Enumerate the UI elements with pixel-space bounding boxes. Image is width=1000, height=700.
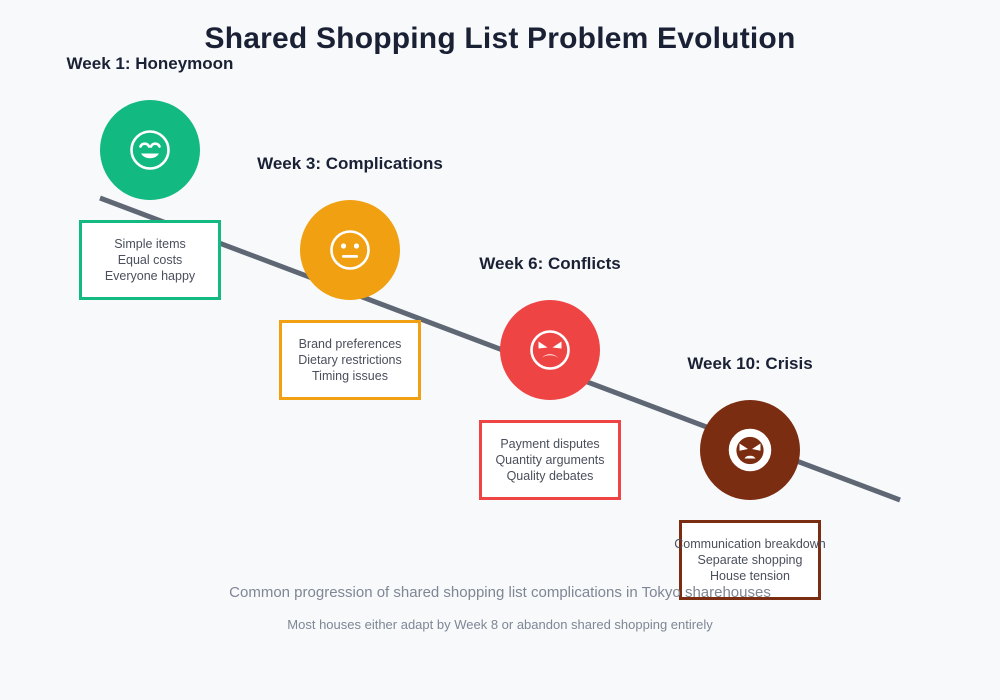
stage-bubble[interactable] xyxy=(100,100,200,200)
footnote-secondary: Most houses either adapt by Week 8 or ab… xyxy=(0,617,1000,632)
stage-label: Week 10: Crisis xyxy=(687,354,812,374)
stage-label: Week 1: Honeymoon xyxy=(67,54,234,74)
stage-bubble[interactable] xyxy=(500,300,600,400)
detail-line: Timing issues xyxy=(312,368,388,384)
detail-line: Communication breakdown xyxy=(674,536,825,552)
stage-label: Week 3: Complications xyxy=(257,154,443,174)
detail-line: Separate shopping xyxy=(698,552,803,568)
detail-line: Simple items xyxy=(114,236,186,252)
detail-line: Dietary restrictions xyxy=(298,352,402,368)
pouting-face-icon xyxy=(727,427,773,473)
stage-label: Week 6: Conflicts xyxy=(479,254,620,274)
detail-line: Quantity arguments xyxy=(495,452,604,468)
detail-line: Quality debates xyxy=(507,468,594,484)
detail-line: Equal costs xyxy=(118,252,183,268)
detail-line: House tension xyxy=(710,568,790,584)
detail-line: Everyone happy xyxy=(105,268,195,284)
diagram-canvas: Shared Shopping List Problem Evolution W… xyxy=(0,0,1000,700)
detail-line: Payment disputes xyxy=(500,436,599,452)
footnote-primary: Common progression of shared shopping li… xyxy=(0,584,1000,601)
stage-bubble[interactable] xyxy=(300,200,400,300)
stage-detail-box: Simple itemsEqual costsEveryone happy xyxy=(79,220,221,300)
detail-line: Brand preferences xyxy=(299,336,402,352)
smiling-face-with-smiling-eyes-icon xyxy=(128,128,172,172)
stage-detail-box: Payment disputesQuantity argumentsQualit… xyxy=(479,420,621,500)
stage-bubble[interactable] xyxy=(700,400,800,500)
angry-face-icon xyxy=(528,328,572,372)
stage-detail-box: Brand preferencesDietary restrictionsTim… xyxy=(279,320,421,400)
neutral-face-icon xyxy=(328,228,372,272)
page-title: Shared Shopping List Problem Evolution xyxy=(0,22,1000,56)
